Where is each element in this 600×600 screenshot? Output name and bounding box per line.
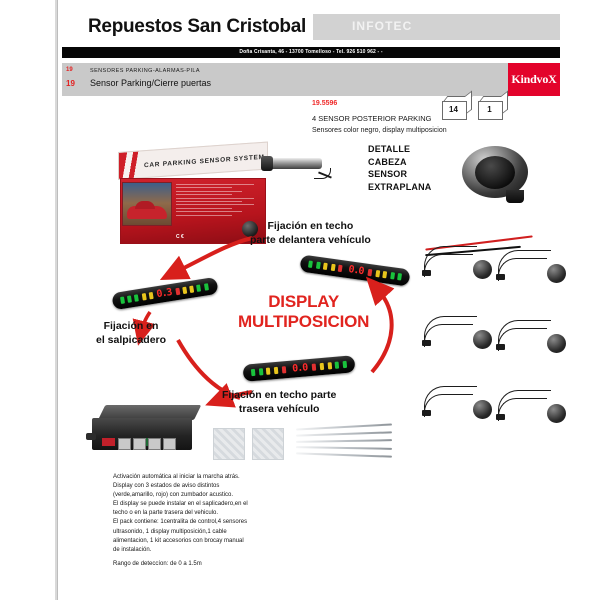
display-multiposicion-heading: DISPLAY MULTIPOSICION bbox=[238, 292, 369, 332]
sensor-head-icon bbox=[473, 400, 492, 419]
sensor-with-cable bbox=[498, 244, 568, 306]
description-line-6: El pack contiene: 1centralita de control… bbox=[113, 518, 363, 527]
led-display-dashboard: 0.3 bbox=[111, 277, 218, 310]
description-line-7: ultrasonido, 1 display multiposición,1 c… bbox=[113, 528, 363, 537]
detection-range-line: Rango de deteccíon: de 0 a 1.5m bbox=[113, 560, 363, 569]
annotation-dashboard: Fijación en el salpicadero bbox=[96, 320, 166, 347]
adhesive-pad bbox=[213, 428, 245, 460]
carton-quantity-value: 14 bbox=[442, 101, 465, 118]
led-readout-value: 0.0 bbox=[292, 362, 308, 374]
brand-logo-text: KindvoX bbox=[508, 63, 560, 96]
detail-caption-line-4: EXTRAPLANA bbox=[368, 181, 432, 194]
description-line-9: de instalación. bbox=[113, 546, 363, 555]
annotation-front-roof: Fijación en techo parte delantera vehícu… bbox=[250, 220, 371, 247]
sensor-head-detail-photo bbox=[262, 144, 328, 190]
detail-caption-line-1: DETALLE bbox=[368, 143, 432, 156]
sensor-puck-closeup bbox=[462, 146, 528, 204]
sensor-cable-secondary bbox=[424, 394, 473, 417]
sensor-puck-terminal bbox=[506, 190, 524, 203]
sensor-cable-secondary bbox=[424, 254, 473, 277]
control-unit-power-port bbox=[102, 438, 115, 446]
sensor-connector bbox=[422, 340, 431, 346]
drill-bits-group bbox=[296, 424, 392, 460]
control-unit-photo bbox=[92, 405, 200, 457]
catalog-page: Repuestos San Cristobal INFOTEC Doña Cri… bbox=[0, 0, 600, 600]
led-display-front-roof: 0.0 bbox=[299, 254, 410, 286]
heading-line-1: DISPLAY bbox=[238, 292, 369, 312]
product-subtitle: Sensores color negro, display multiposic… bbox=[312, 127, 447, 134]
annotation-dashboard-line-1: Fijación en bbox=[96, 320, 166, 334]
sensor-connector bbox=[422, 410, 431, 416]
control-unit-sensor-ports bbox=[118, 437, 188, 447]
description-line-1: Activación automática al iniciar la marc… bbox=[113, 473, 363, 482]
product-reference: 19.5596 bbox=[312, 100, 337, 107]
retail-box-photo: CAR PARKING SENSOR SYSTEM C € bbox=[118, 152, 266, 244]
sensor-connector bbox=[496, 344, 505, 350]
detail-caption: DETALLE CABEZA SENSOR EXTRAPLANA bbox=[368, 143, 432, 193]
sensor-head-icon bbox=[473, 260, 492, 279]
sensor-with-cable bbox=[424, 380, 494, 442]
description-line-2: Display con 3 estados de aviso distintos bbox=[113, 482, 363, 491]
annotation-rear-roof-line-1: Fijación en techo parte bbox=[222, 389, 336, 403]
sensor-puck-membrane bbox=[475, 156, 515, 189]
section-tab-label: INFOTEC bbox=[352, 19, 412, 33]
description-line-5: techo o en la parte trasera del vehiculo… bbox=[113, 509, 363, 518]
adhesive-pad bbox=[252, 428, 284, 460]
annotation-rear-roof-line-2: trasera vehículo bbox=[222, 403, 336, 417]
address-text: Doña Crisanta, 46 - 13700 Tomelloso - Te… bbox=[62, 47, 560, 58]
led-readout-value: 0.3 bbox=[156, 287, 173, 300]
sensor-with-cable bbox=[424, 240, 494, 302]
retail-box-spec-lines bbox=[176, 184, 254, 214]
product-title: 4 SENSOR POSTERIOR PARKING bbox=[312, 114, 431, 123]
sensor-head-icon bbox=[473, 330, 492, 349]
category-number-large: 19 bbox=[66, 79, 75, 88]
control-unit-bracket bbox=[86, 433, 96, 440]
sensor-cable-secondary bbox=[498, 398, 547, 421]
detail-caption-line-3: SENSOR bbox=[368, 168, 432, 181]
sensor-head-icon bbox=[547, 404, 566, 423]
section-tab[interactable] bbox=[313, 14, 560, 40]
detail-caption-line-2: CABEZA bbox=[368, 156, 432, 169]
sensor-cable-secondary bbox=[498, 328, 547, 351]
company-title: Repuestos San Cristobal bbox=[88, 16, 306, 38]
sensor-with-cable bbox=[498, 314, 568, 376]
arrow-curve-right bbox=[372, 290, 392, 372]
carton-quantity-box: 14 bbox=[442, 96, 472, 118]
description-line-4: El display se puede instalar en el sapli… bbox=[113, 500, 363, 509]
heading-line-2: MULTIPOSICION bbox=[238, 312, 369, 332]
unit-quantity-value: 1 bbox=[478, 101, 501, 118]
category-label-small: SENSORES PARKING-ALARMAS-PILA bbox=[90, 68, 200, 74]
car-illustration bbox=[127, 206, 167, 219]
description-line-8: alimentacion, 1 kit accesorios con broca… bbox=[113, 537, 363, 546]
brand-logo: KindvoX bbox=[508, 63, 560, 96]
annotation-dashboard-line-2: el salpicadero bbox=[96, 334, 166, 348]
annotation-front-roof-line-1: Fijación en techo bbox=[250, 220, 371, 234]
sensor-cable-secondary bbox=[498, 258, 547, 281]
sensor-head-icon bbox=[547, 334, 566, 353]
unit-quantity-box: 1 bbox=[478, 96, 508, 118]
annotation-front-roof-line-2: parte delantera vehículo bbox=[250, 234, 371, 248]
sensor-with-cable bbox=[498, 384, 568, 446]
sensor-connector bbox=[422, 270, 431, 276]
sensor-connector bbox=[496, 414, 505, 420]
ce-mark-icon: C € bbox=[176, 234, 184, 240]
sensor-with-cable bbox=[424, 310, 494, 372]
product-description: Activación automática al iniciar la marc… bbox=[113, 473, 363, 569]
description-line-3: (verde,amarillo, rojo) con zumbador acus… bbox=[113, 491, 363, 500]
led-readout-value: 0.0 bbox=[348, 264, 364, 277]
annotation-rear-roof: Fijación en techo parte trasera vehículo bbox=[222, 389, 336, 416]
retail-box-car-photo bbox=[122, 182, 172, 226]
sensor-harness-group bbox=[418, 240, 578, 460]
sensor-head-icon bbox=[547, 264, 566, 283]
page-left-rule-inner bbox=[57, 0, 58, 600]
address-bar: Doña Crisanta, 46 - 13700 Tomelloso - Te… bbox=[62, 47, 560, 58]
sensor-head-cap bbox=[261, 156, 273, 171]
category-number-small: 19 bbox=[66, 67, 73, 73]
sensor-cable-secondary bbox=[424, 324, 473, 347]
category-label-large: Sensor Parking/Cierre puertas bbox=[90, 78, 211, 88]
sensor-connector bbox=[496, 274, 505, 280]
led-display-rear-roof: 0.0 bbox=[242, 355, 355, 382]
